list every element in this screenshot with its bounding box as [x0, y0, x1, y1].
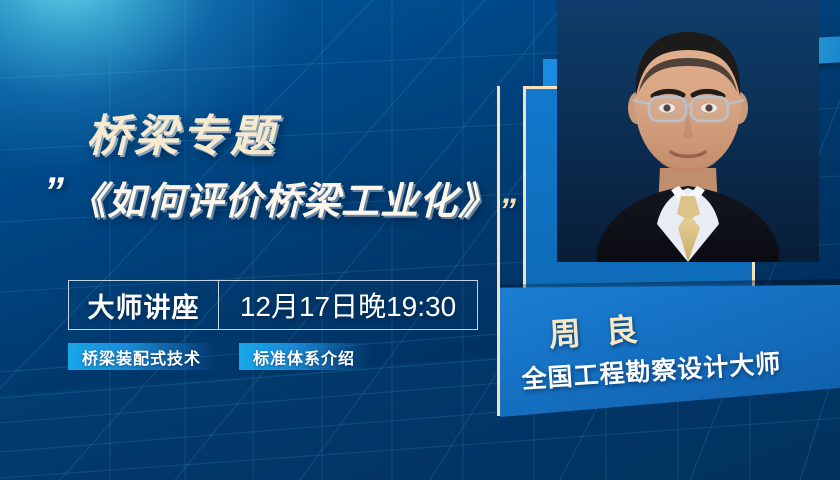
speaker-portrait — [557, 0, 819, 262]
quote-open-icon: ” — [44, 174, 62, 210]
lecture-datetime: 12月17日晚19:30 — [219, 281, 477, 329]
lecture-series-badge: 大师讲座 — [69, 281, 219, 329]
subtitle-row: ” 《如何评价桥梁工业化》 ” — [44, 170, 514, 225]
topic-tag: 标准体系介绍 — [239, 343, 371, 370]
lecture-promo-poster: 桥梁专题 ” 《如何评价桥梁工业化》 ” 大师讲座 12月17日晚19:30 桥… — [0, 0, 840, 480]
lecture-subtitle: 《如何评价桥梁工业化》 — [68, 170, 497, 225]
lecture-info-box: 大师讲座 12月17日晚19:30 — [68, 280, 478, 330]
page-title: 桥梁专题 — [86, 100, 278, 164]
topic-tag: 桥梁装配式技术 — [68, 343, 217, 370]
speaker-nameplate: 周 良 全国工程勘察设计大师 — [500, 285, 840, 417]
speaker-composition: 周 良 全国工程勘察设计大师 — [497, 0, 840, 480]
decor-gold-frame-edge — [497, 86, 500, 416]
topic-tag-list: 桥梁装配式技术 标准体系介绍 — [68, 343, 371, 370]
